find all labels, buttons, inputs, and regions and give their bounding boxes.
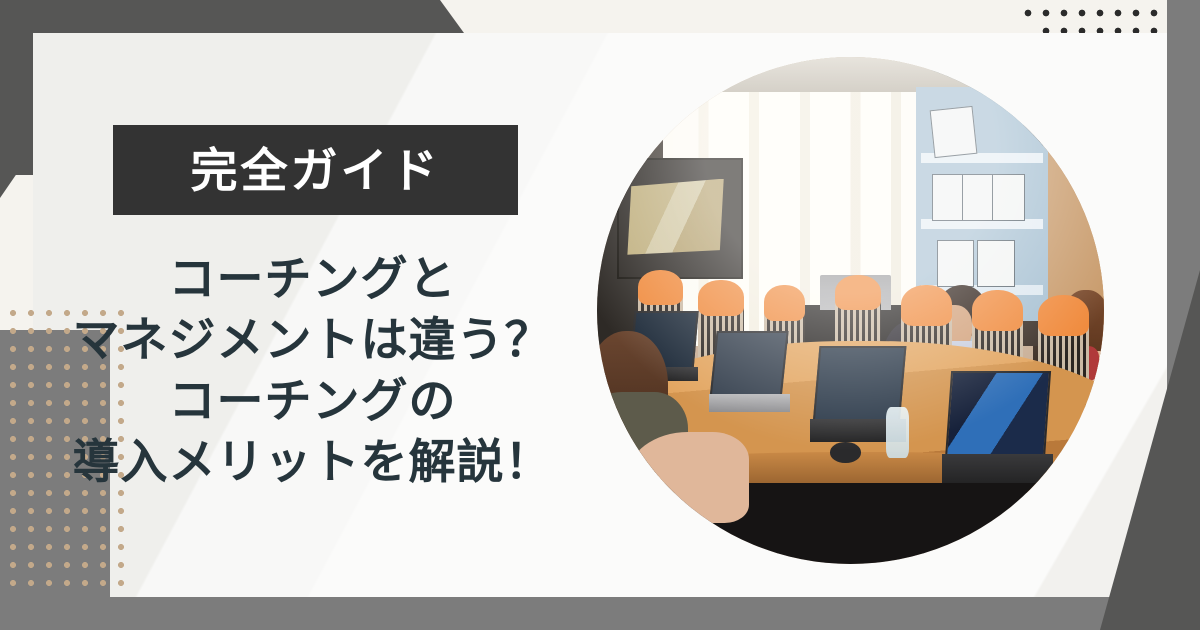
frame-band-top xyxy=(0,0,470,33)
title-line-4: 導入メリットを解説！ xyxy=(30,431,595,492)
hero-photo xyxy=(597,57,1104,564)
frame-band-left xyxy=(0,0,33,175)
title-line-3: コーチングの xyxy=(30,370,595,431)
title-line-2: マネジメントは違う？ xyxy=(30,309,595,370)
frame-band-bottom xyxy=(0,597,1200,630)
page-title: コーチングと マネジメントは違う？ コーチングの 導入メリットを解説！ xyxy=(30,248,595,492)
photo-light-veil xyxy=(597,57,1104,564)
guide-badge-label: 完全ガイド xyxy=(191,147,441,194)
guide-badge: 完全ガイド xyxy=(113,125,518,215)
title-line-1: コーチングと xyxy=(30,248,595,309)
banner-canvas: 完全ガイド コーチングと マネジメントは違う？ コーチングの 導入メリットを解説… xyxy=(0,0,1200,630)
